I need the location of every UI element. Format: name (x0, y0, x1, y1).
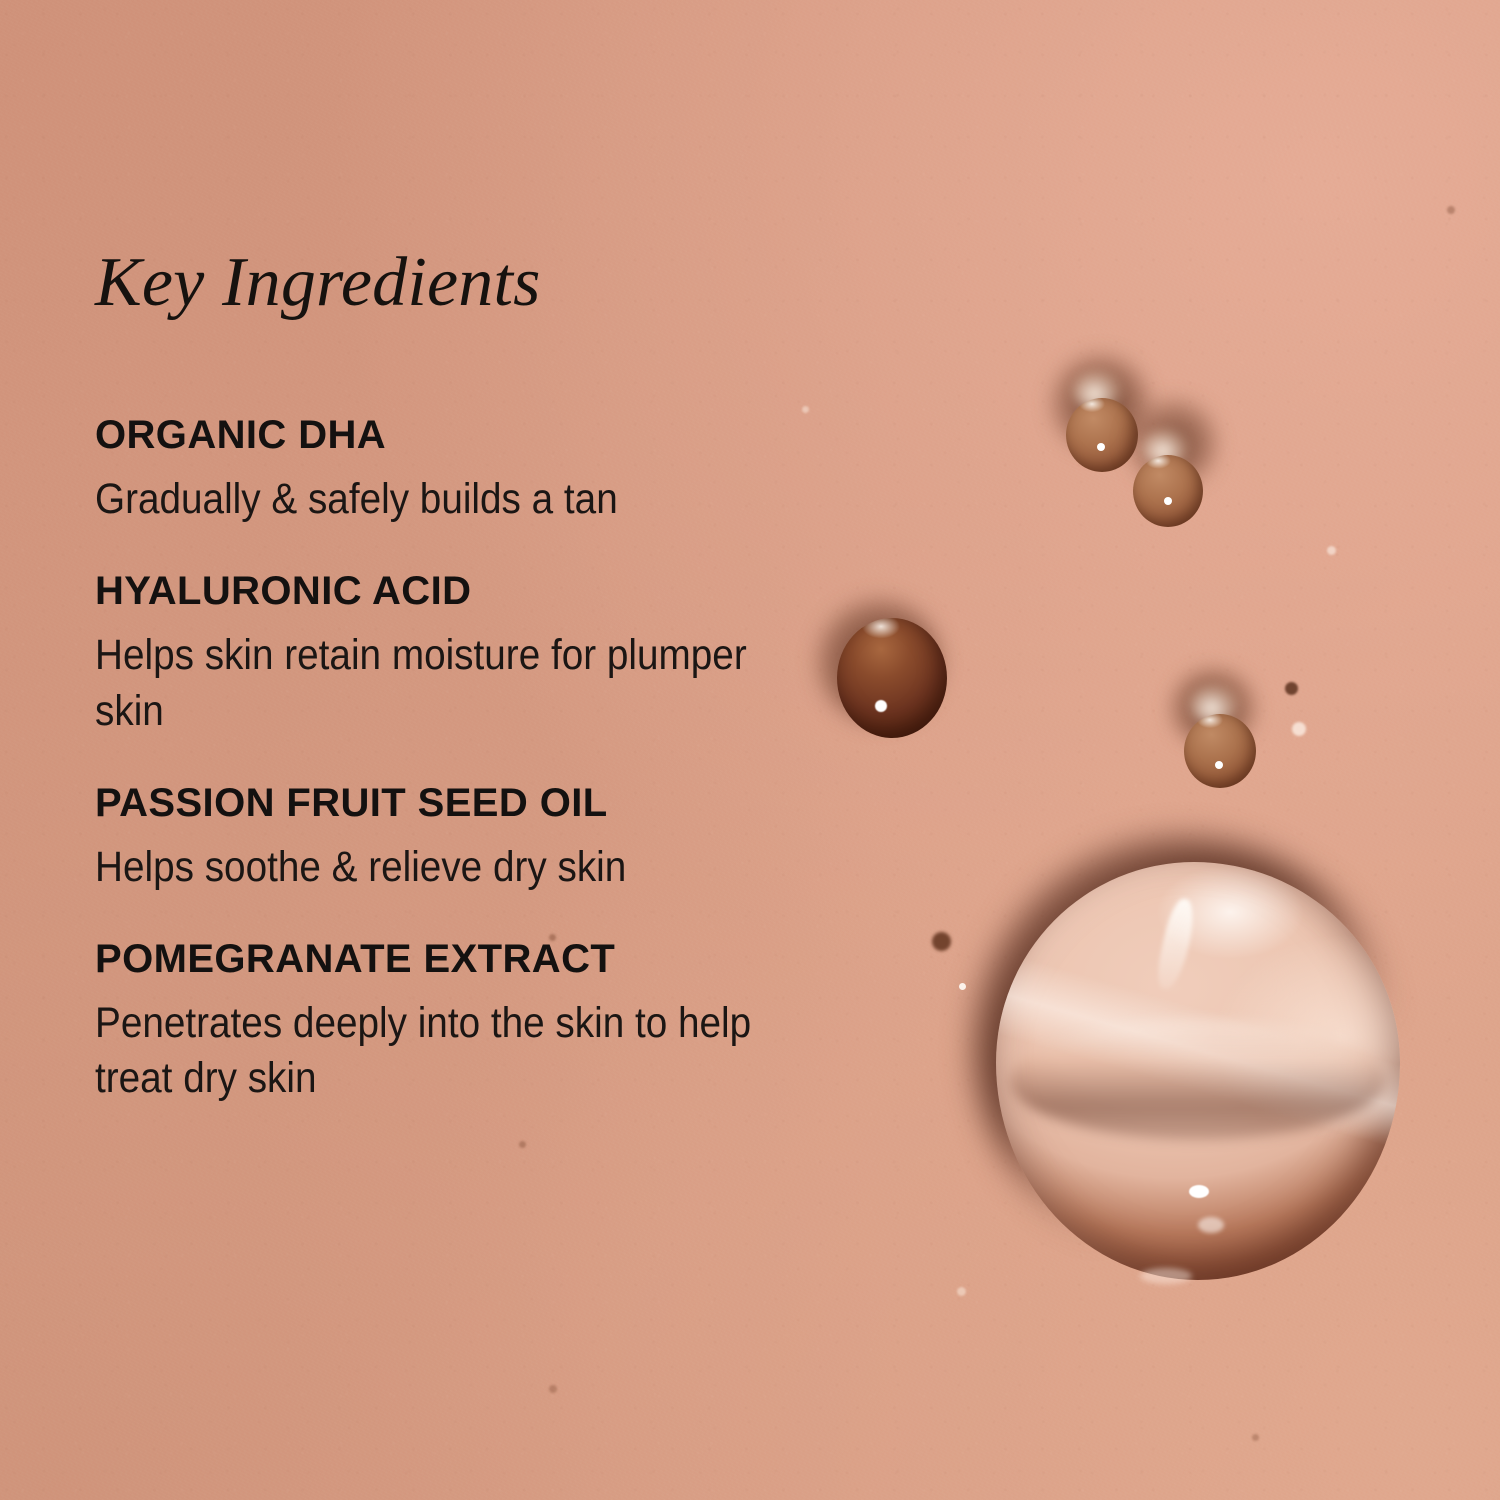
ingredient-description: Helps skin retain moisture for plumper s… (95, 628, 757, 740)
ingredient-name: ORGANIC DHA (95, 414, 895, 456)
ingredient-description: Gradually & safely builds a tan (95, 472, 779, 528)
ingredient-description: Penetrates deeply into the skin to help … (95, 996, 815, 1108)
page-title: Key Ingredients (95, 248, 895, 318)
ingredient-item-hyaluronic-acid: HYALURONIC ACID Helps skin retain moistu… (95, 570, 895, 740)
ingredient-item-organic-dha: ORGANIC DHA Gradually & safely builds a … (95, 414, 895, 528)
product-ingredients-card: Key Ingredients ORGANIC DHA Gradually & … (0, 0, 1500, 1500)
ingredient-name: PASSION FRUIT SEED OIL (95, 782, 895, 824)
ingredient-item-passion-fruit-seed-oil: PASSION FRUIT SEED OIL Helps soothe & re… (95, 782, 895, 896)
ingredient-name: POMEGRANATE EXTRACT (95, 938, 895, 980)
ingredient-item-pomegranate-extract: POMEGRANATE EXTRACT Penetrates deeply in… (95, 938, 895, 1108)
ingredient-name: HYALURONIC ACID (95, 570, 895, 612)
ingredients-text-column: Key Ingredients ORGANIC DHA Gradually & … (95, 248, 895, 1107)
ingredient-description: Helps soothe & relieve dry skin (95, 840, 779, 896)
